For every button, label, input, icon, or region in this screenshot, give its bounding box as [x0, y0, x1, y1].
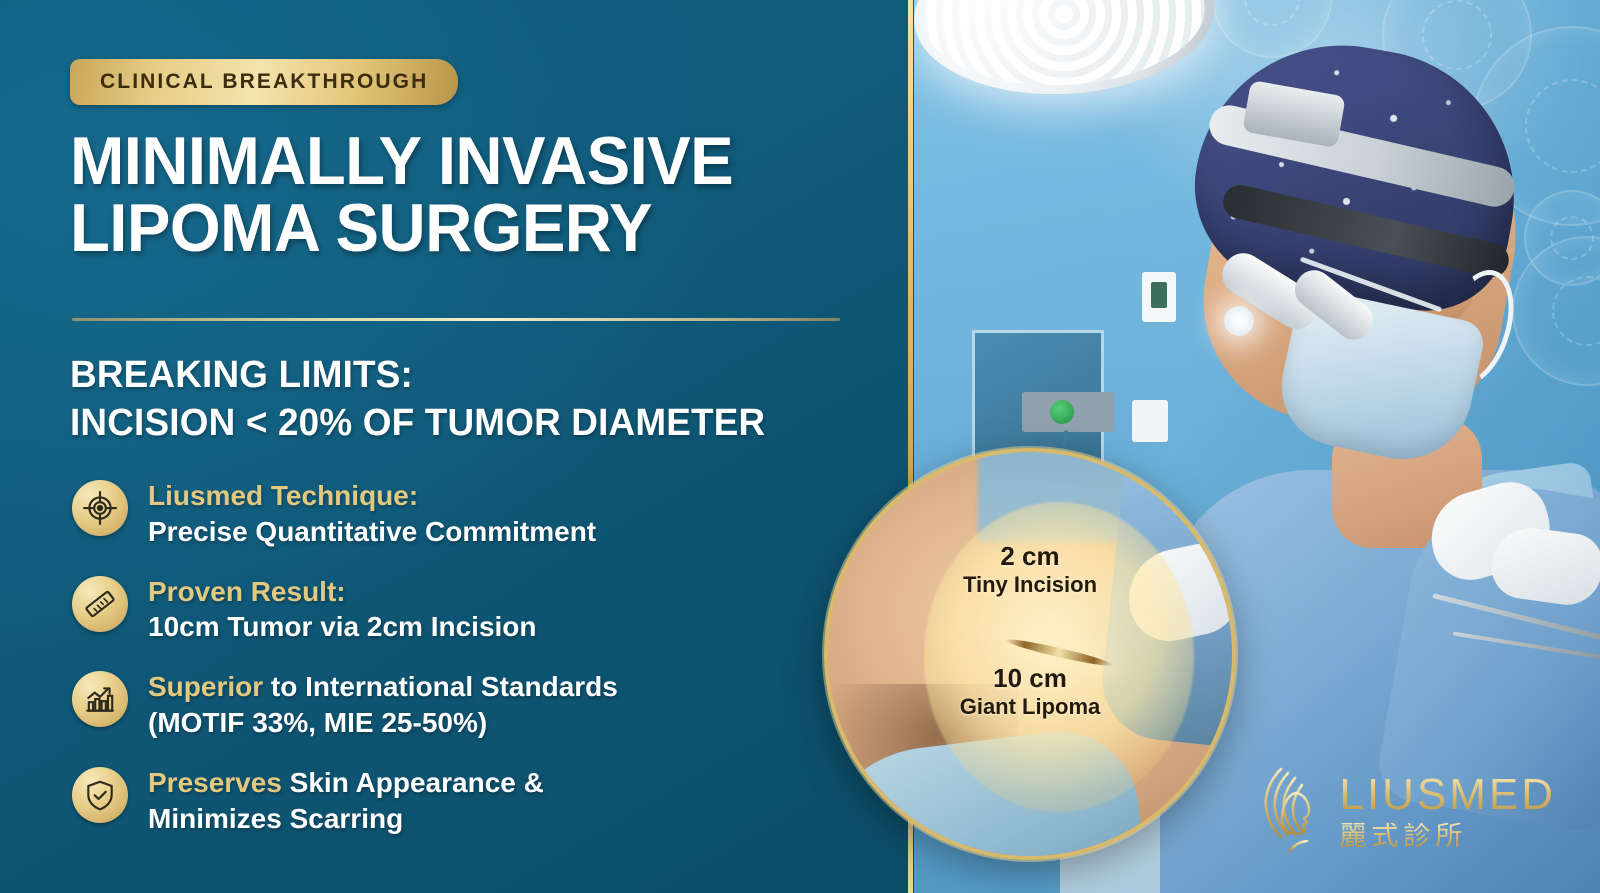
feature-highlight: Liusmed Technique:: [148, 480, 418, 511]
feature-detail: 10cm Tumor via 2cm Incision: [148, 609, 537, 645]
subtitle-line-2: INCISION < 20% OF TUMOR DIAMETER: [70, 400, 865, 448]
list-item-text: Preserves Skin Appearance & Minimizes Sc…: [148, 763, 544, 837]
feature-detail: Minimizes Scarring: [148, 801, 544, 837]
gold-divider: [72, 318, 840, 321]
ruler-icon: [72, 576, 128, 632]
brand-logo: LIUSMED 麗式診所: [1257, 763, 1556, 859]
list-item: Superior to International Standards (MOT…: [72, 667, 862, 741]
logo-name: LIUSMED: [1339, 773, 1556, 817]
target-icon: [72, 480, 128, 536]
shield-check-icon: [72, 767, 128, 823]
headline-line-1: MINIMALLY INVASIVE: [70, 128, 838, 195]
incision-callout: 2 cm Tiny Incision: [828, 542, 1232, 598]
badge-label: CLINICAL BREAKTHROUGH: [100, 70, 428, 94]
feature-highlight: Superior: [148, 671, 263, 702]
incision-label: Tiny Incision: [828, 572, 1232, 598]
tumor-callout: 10 cm Giant Lipoma: [828, 664, 1232, 720]
list-item: Preserves Skin Appearance & Minimizes Sc…: [72, 763, 862, 837]
page-title: MINIMALLY INVASIVE LIPOMA SURGERY: [70, 128, 838, 261]
feature-detail: Precise Quantitative Commitment: [148, 514, 596, 550]
headline-line-2: LIPOMA SURGERY: [70, 195, 838, 262]
list-item-text: Proven Result: 10cm Tumor via 2cm Incisi…: [148, 572, 537, 646]
tumor-value: 10 cm: [828, 664, 1232, 694]
incision-detail-inset: 2 cm Tiny Incision 10 cm Giant Lipoma: [824, 448, 1236, 860]
list-item-text: Superior to International Standards (MOT…: [148, 667, 618, 741]
subtitle-line-1: BREAKING LIMITS:: [70, 352, 865, 400]
feature-detail: (MOTIF 33%, MIE 25-50%): [148, 705, 618, 741]
subtitle: BREAKING LIMITS: INCISION < 20% OF TUMOR…: [70, 352, 865, 447]
list-item: Liusmed Technique: Precise Quantitative …: [72, 476, 862, 550]
woman-profile-icon: [1257, 763, 1323, 859]
feature-highlight: Proven Result:: [148, 576, 346, 607]
feature-list: Liusmed Technique: Precise Quantitative …: [72, 476, 862, 859]
tumor-label: Giant Lipoma: [828, 694, 1232, 720]
list-item-text: Liusmed Technique: Precise Quantitative …: [148, 476, 596, 550]
logo-chinese-name: 麗式診所: [1339, 823, 1556, 850]
logo-text: LIUSMED 麗式診所: [1339, 773, 1556, 850]
incision-value: 2 cm: [828, 542, 1232, 572]
growth-chart-icon: [72, 671, 128, 727]
clinical-breakthrough-badge: CLINICAL BREAKTHROUGH: [70, 59, 458, 105]
headlight-beam: [1224, 306, 1254, 336]
infographic-poster: CLINICAL BREAKTHROUGH MINIMALLY INVASIVE…: [0, 0, 1600, 893]
list-item: Proven Result: 10cm Tumor via 2cm Incisi…: [72, 572, 862, 646]
feature-highlight: Preserves: [148, 767, 282, 798]
feature-rest: Skin Appearance &: [282, 767, 544, 798]
feature-rest: to International Standards: [263, 671, 618, 702]
